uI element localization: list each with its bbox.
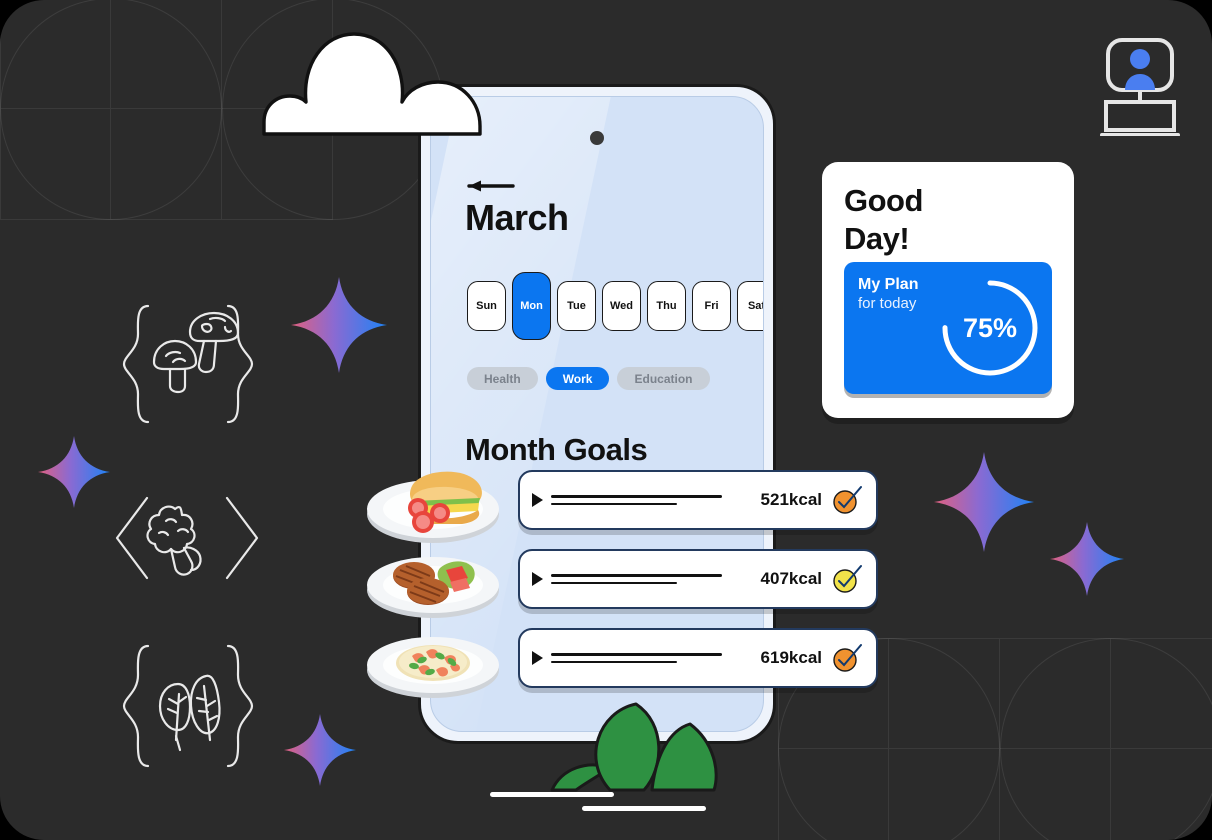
check-circle-icon[interactable] [832, 564, 862, 594]
goal-text-placeholder [551, 574, 755, 584]
day-chip-thu[interactable]: Thu [647, 281, 686, 331]
sparkle-star-icon [284, 714, 356, 791]
grid-circle [0, 0, 222, 220]
broccoli-icon [148, 507, 201, 575]
user-monitor-icon [1100, 36, 1180, 141]
plate-steak-salad [366, 540, 500, 627]
food-badge-spinach [118, 640, 258, 777]
week-day-selector[interactable]: Sun Mon Tue Wed Thu Fri Sat [467, 272, 764, 340]
goal-row[interactable]: 521kcal [518, 470, 878, 530]
mushroom-icon [154, 313, 238, 392]
my-plan-label: My Plan [858, 276, 918, 294]
sparkle-star-icon [38, 436, 110, 513]
tab-education[interactable]: Education [617, 367, 709, 390]
screenshot-stage: March Sun Mon Tue Wed Thu Fri Sat Health… [0, 0, 1212, 840]
my-plan-sublabel: for today [858, 295, 916, 312]
decorative-line [582, 806, 706, 811]
poster-canvas: March Sun Mon Tue Wed Thu Fri Sat Health… [0, 0, 1212, 840]
sparkle-star-icon [291, 277, 387, 378]
play-triangle-icon [532, 651, 543, 665]
goal-text-placeholder [551, 653, 755, 663]
play-triangle-icon [532, 493, 543, 507]
day-chip-tue[interactable]: Tue [557, 281, 596, 331]
cloud-icon [258, 28, 486, 145]
play-triangle-icon [532, 572, 543, 586]
day-chip-sun[interactable]: Sun [467, 281, 506, 331]
food-badge-broccoli [112, 488, 262, 603]
category-tabs[interactable]: Health Work Education [467, 367, 710, 390]
check-circle-icon[interactable] [832, 485, 862, 515]
goal-row[interactable]: 619kcal [518, 628, 878, 688]
goal-row[interactable]: 407kcal [518, 549, 878, 609]
check-circle-icon[interactable] [832, 643, 862, 673]
day-chip-wed[interactable]: Wed [602, 281, 641, 331]
good-day-title: Good Day! [844, 182, 1052, 258]
goal-kcal: 619kcal [761, 648, 822, 668]
leaf-bush-icon [548, 690, 744, 805]
good-day-line1: Good [844, 182, 1052, 220]
camera-dot-icon [590, 131, 604, 145]
angle-bracket-left [117, 498, 147, 578]
day-chip-sat[interactable]: Sat [737, 281, 764, 331]
good-day-line2: Day! [844, 220, 1052, 258]
sparkle-star-icon [1050, 522, 1124, 601]
spinach-leaf-icon [160, 676, 220, 750]
goal-text-placeholder [551, 495, 755, 505]
food-badge-mushroom [118, 300, 258, 433]
goal-kcal: 407kcal [761, 569, 822, 589]
sparkle-star-icon [934, 452, 1034, 557]
plate-risotto-shrimp [366, 622, 500, 707]
page-title: March [465, 197, 569, 239]
angle-bracket-right [227, 498, 257, 578]
day-chip-fri[interactable]: Fri [692, 281, 731, 331]
goal-kcal: 521kcal [761, 490, 822, 510]
my-plan-card[interactable]: My Plan for today 75% [844, 262, 1052, 394]
decorative-line [490, 792, 614, 797]
arrow-left-icon[interactable] [467, 179, 515, 193]
tab-work[interactable]: Work [546, 367, 610, 390]
progress-percent: 75% [934, 272, 1046, 384]
plate-sandwich-tomato [366, 456, 500, 549]
day-chip-mon[interactable]: Mon [512, 272, 551, 340]
tab-health[interactable]: Health [467, 367, 538, 390]
good-day-card: Good Day! My Plan for today 75% [822, 162, 1074, 418]
